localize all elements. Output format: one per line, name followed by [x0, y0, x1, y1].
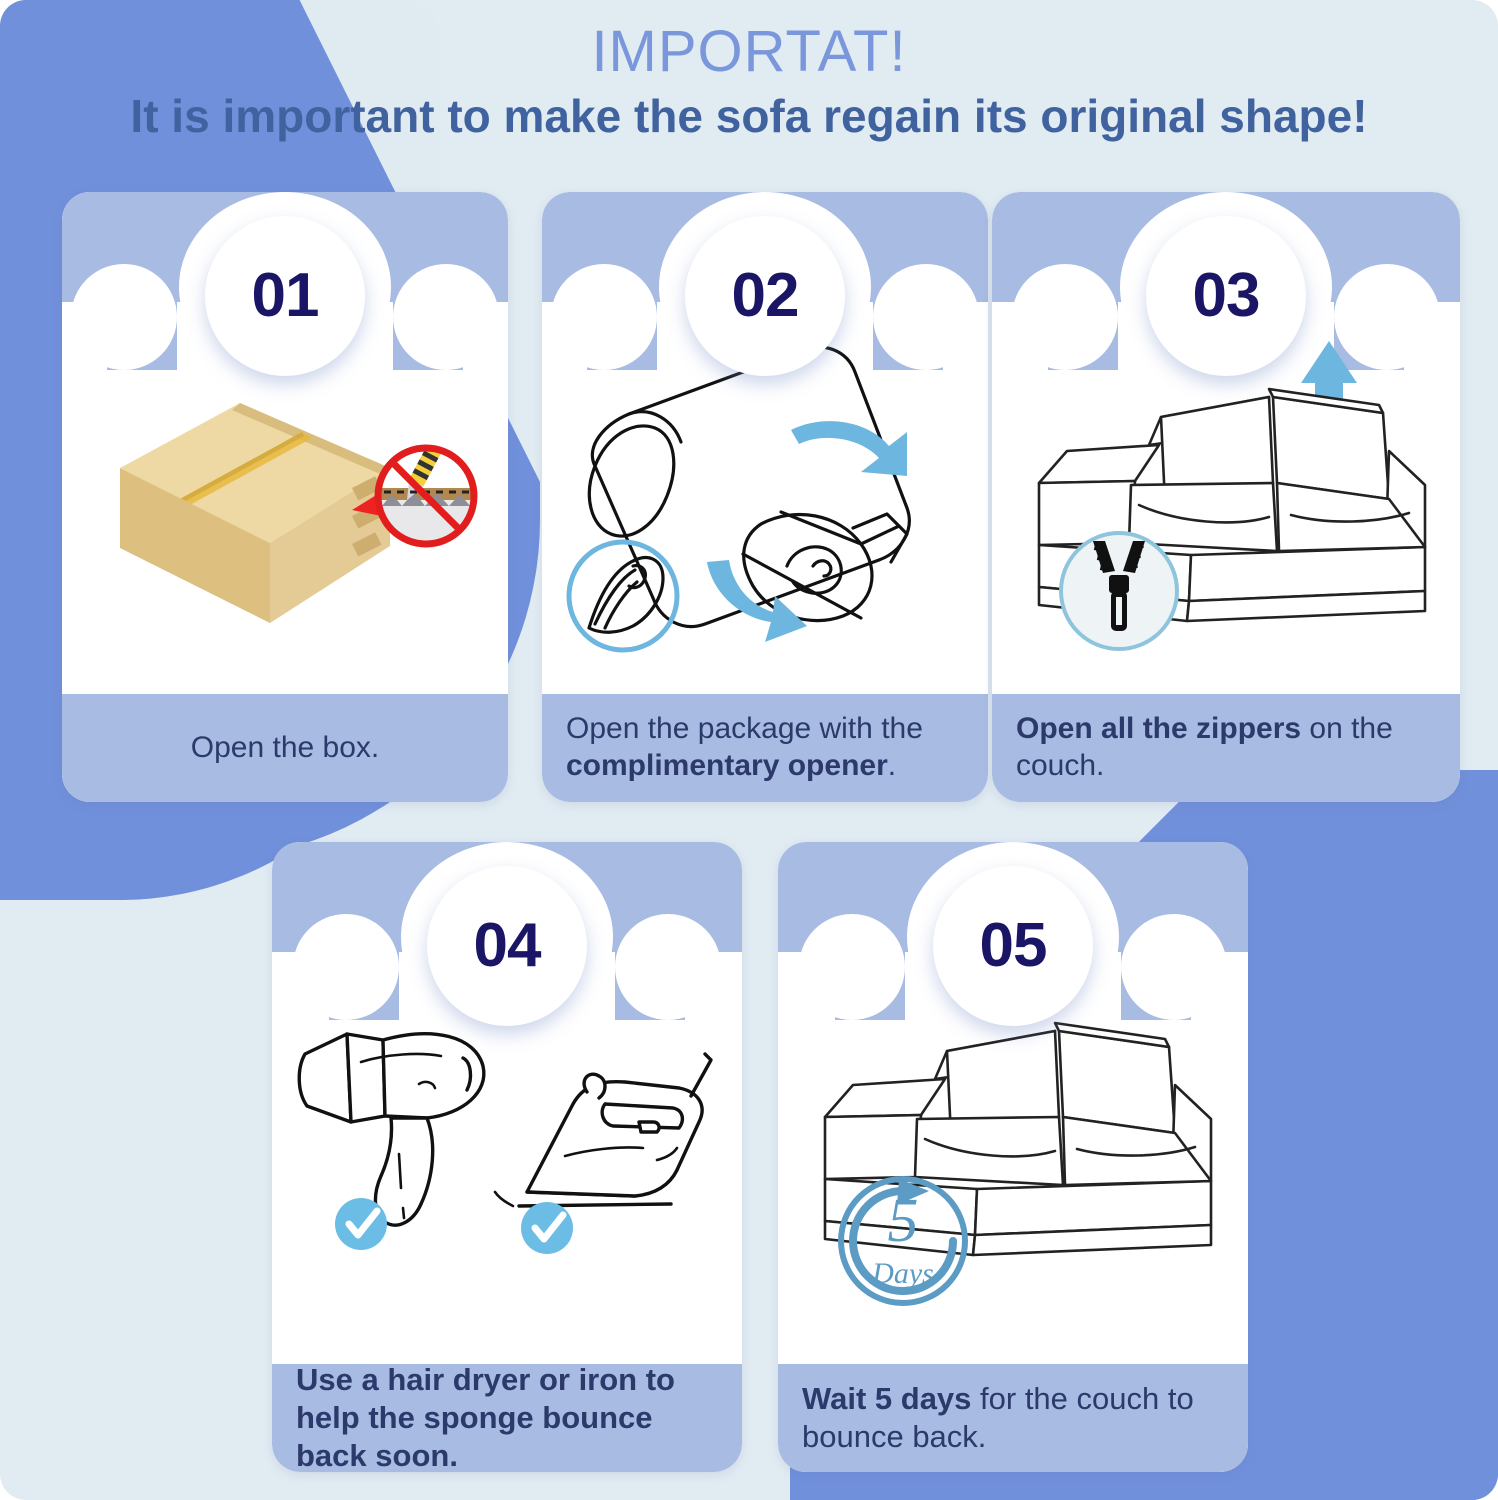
step-card-01[interactable]: 01 [62, 192, 508, 802]
caption-part-bold: Use a hair dryer or iron to help the spo… [296, 1362, 675, 1472]
step-card-04[interactable]: 04 [272, 842, 742, 1472]
step-card-caption-band: Wait 5 days for the couch to bounce back… [778, 1364, 1248, 1472]
step-caption: Open the box. [86, 730, 484, 767]
step-caption: Wait 5 days for the couch to bounce back… [802, 1380, 1224, 1456]
step-number: 04 [474, 915, 541, 977]
caption-part: . [888, 749, 896, 782]
step-card-03[interactable]: 03 [992, 192, 1460, 802]
step-card-body: 04 [272, 842, 742, 1472]
caption-part-bold: complimentary opener [566, 749, 888, 782]
step-card-caption-band: Open the package with the complimentary … [542, 694, 988, 802]
step-card-body: 02 [542, 192, 988, 802]
step-caption: Use a hair dryer or iron to help the spo… [296, 1361, 718, 1472]
step-number: 03 [1193, 265, 1260, 327]
step-card-caption-band: Open all the zippers on the couch. [992, 694, 1460, 802]
step-card-05[interactable]: 05 [778, 842, 1248, 1472]
step-card-caption-band: Use a hair dryer or iron to help the spo… [272, 1364, 742, 1472]
package-opener-icon [569, 542, 677, 650]
infographic-canvas: IMPORTAT! It is important to make the so… [0, 0, 1498, 1500]
step-card-body: 01 [62, 192, 508, 802]
check-circle-icon [335, 1198, 387, 1250]
clothes-iron-icon [519, 1054, 711, 1206]
step-caption: Open the package with the complimentary … [566, 711, 964, 784]
step-caption: Open all the zippers on the couch. [1016, 711, 1436, 784]
step-card-caption-band: Open the box. [62, 694, 508, 802]
badge-value: 5 [888, 1187, 919, 1255]
step-number: 01 [252, 265, 319, 327]
rolled-package-icon [555, 328, 975, 668]
step-number-bubble: 03 [1146, 216, 1306, 376]
step-card-body: 03 [992, 192, 1460, 802]
curved-arrow-icon [707, 421, 907, 642]
page-subtitle: It is important to make the sofa regain … [0, 83, 1498, 142]
caption-part-bold: Wait 5 days [802, 1381, 971, 1416]
caption-part: Open the box. [191, 731, 379, 764]
step-number-bubble: 04 [427, 866, 587, 1026]
step-number: 02 [732, 265, 799, 327]
cardboard-box-icon [90, 348, 480, 648]
page-title: IMPORTAT! [0, 0, 1498, 83]
step-number-bubble: 05 [933, 866, 1093, 1026]
couch-icon: 5 Days [793, 993, 1233, 1323]
zipper-icon [1061, 533, 1177, 649]
header: IMPORTAT! It is important to make the so… [0, 0, 1498, 186]
step-card-02[interactable]: 02 [542, 192, 988, 802]
badge-unit: Days [871, 1257, 934, 1290]
couch-icon [1011, 333, 1441, 663]
caption-part-bold: Open all the zippers [1016, 712, 1301, 745]
hair-dryer-icon [299, 1034, 484, 1225]
check-circle-icon [521, 1202, 573, 1254]
step-number: 05 [980, 915, 1047, 977]
step-card-body: 05 [778, 842, 1248, 1472]
step-number-bubble: 02 [685, 216, 845, 376]
no-cutter-warning-icon [376, 444, 476, 546]
step-number-bubble: 01 [205, 216, 365, 376]
caption-part: Open the package with the [566, 712, 923, 745]
